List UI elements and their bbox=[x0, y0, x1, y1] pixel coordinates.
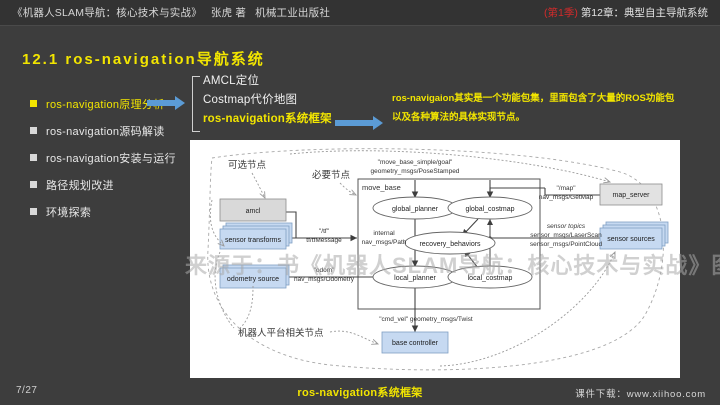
node-amcl-label: amcl bbox=[246, 208, 261, 215]
node-sensor-sources-label: sensor sources bbox=[607, 236, 655, 243]
edge-label-tf-line2: tf/tfMessage bbox=[306, 237, 342, 244]
header-book-info: 《机器人SLAM导航：核心技术与实战》张虎 著机械工业出版社 bbox=[12, 5, 330, 20]
bullet-square-icon bbox=[30, 127, 37, 134]
slide-header: 《机器人SLAM导航：核心技术与实战》张虎 著机械工业出版社 (第1季) 第12… bbox=[0, 0, 720, 26]
header-book-title: 《机器人SLAM导航：核心技术与实战》 bbox=[12, 7, 202, 19]
agenda-item-label: ros-navigation安装与运行 bbox=[46, 150, 176, 166]
header-publisher: 机械工业出版社 bbox=[255, 7, 330, 19]
arrow-right-icon-note bbox=[335, 116, 383, 130]
arrow-right-icon-agenda bbox=[147, 96, 185, 110]
bullet-square-icon bbox=[30, 100, 37, 107]
subitem-framework[interactable]: ros-navigation系统框架 bbox=[203, 110, 332, 129]
edge-label-map-line2: nav_msgs/GetMap bbox=[539, 194, 594, 201]
edge-label-sensor-line3: sensor_msgs/PointCloud bbox=[530, 241, 603, 248]
node-odometry-source-label: odometry source bbox=[227, 276, 279, 283]
node-sensor-transforms-label: sensor transforms bbox=[225, 237, 282, 244]
page-title: 12.1 ros-navigation导航系统 bbox=[22, 48, 265, 69]
annotation-platform-nodes: 机器人平台相关节点 bbox=[238, 327, 324, 339]
node-base-controller-label: base controller bbox=[392, 340, 439, 347]
agenda-item-label: ros-navigation源码解读 bbox=[46, 123, 165, 139]
ros-navigation-architecture-diagram: move_base bbox=[190, 140, 680, 378]
edge-label-cmdvel: "cmd_vel" geometry_msgs/Twist bbox=[379, 316, 473, 323]
bullet-square-icon bbox=[30, 154, 37, 161]
download-link[interactable]: 课件下载：www.xiihoo.com bbox=[575, 386, 706, 400]
subitem-list: AMCL定位 Costmap代价地图 ros-navigation系统框架 bbox=[203, 72, 332, 129]
node-recovery-behaviors-label: recovery_behaviors bbox=[419, 241, 481, 248]
slide: 《机器人SLAM导航：核心技术与实战》张虎 著机械工业出版社 (第1季) 第12… bbox=[0, 0, 720, 405]
node-map-server-label: map_server bbox=[613, 192, 651, 199]
node-global-costmap-label: global_costmap bbox=[465, 206, 514, 213]
move-base-label: move_base bbox=[362, 183, 401, 192]
node-global-planner-label: global_planner bbox=[392, 206, 439, 213]
bullet-square-icon bbox=[30, 208, 37, 215]
edge-label-goal-line1: "move_base_simple/goal" bbox=[378, 159, 453, 166]
header-author: 张虎 著 bbox=[211, 7, 246, 19]
agenda-item-principle[interactable]: ros-navigation原理分析 bbox=[30, 90, 230, 117]
edge-label-internal-line1: internal bbox=[373, 230, 395, 237]
header-chapter: 第12章：典型自主导航系统 bbox=[581, 7, 708, 19]
node-local-planner-label: local_planner bbox=[394, 275, 436, 282]
edge-label-odom-line1: "odom" bbox=[314, 267, 336, 274]
annotation-optional-nodes: 可选节点 bbox=[228, 159, 267, 171]
edge-label-goal-line2: geometry_msgs/PoseStamped bbox=[371, 168, 460, 175]
edge-label-sensor-line2: sensor_msgs/LaserScan bbox=[530, 232, 602, 239]
edge-label-tf-line1: "/tf" bbox=[319, 228, 330, 235]
annotation-required-nodes: 必要节点 bbox=[312, 169, 351, 181]
edge-label-sensor-line1: sensor topics bbox=[547, 223, 586, 230]
agenda-item-label: 环境探索 bbox=[46, 204, 91, 220]
edge-label-map-line1: "/map" bbox=[556, 185, 576, 192]
header-chapter-info: (第1季) 第12章：典型自主导航系统 bbox=[544, 5, 708, 20]
season-badge: (第1季) bbox=[544, 7, 578, 19]
bullet-square-icon bbox=[30, 181, 37, 188]
node-local-costmap-label: local_costmap bbox=[468, 275, 513, 282]
edge-label-internal-line2: nav_msgs/Path bbox=[362, 239, 407, 246]
explanation-note: ros-navigaion其实是一个功能包集，里面包含了大量的ROS功能包 以及… bbox=[392, 89, 674, 127]
agenda-item-label: 路径规划改进 bbox=[46, 177, 114, 193]
subitem-amcl[interactable]: AMCL定位 bbox=[203, 72, 332, 91]
note-line-2: 以及各种算法的具体实现节点。 bbox=[392, 108, 674, 127]
edge-label-odom-line2: nav_msgs/Odometry bbox=[294, 276, 355, 283]
subitem-bracket bbox=[192, 76, 200, 132]
subitem-costmap[interactable]: Costmap代价地图 bbox=[203, 91, 332, 110]
note-line-1: ros-navigaion其实是一个功能包集，里面包含了大量的ROS功能包 bbox=[392, 89, 674, 108]
